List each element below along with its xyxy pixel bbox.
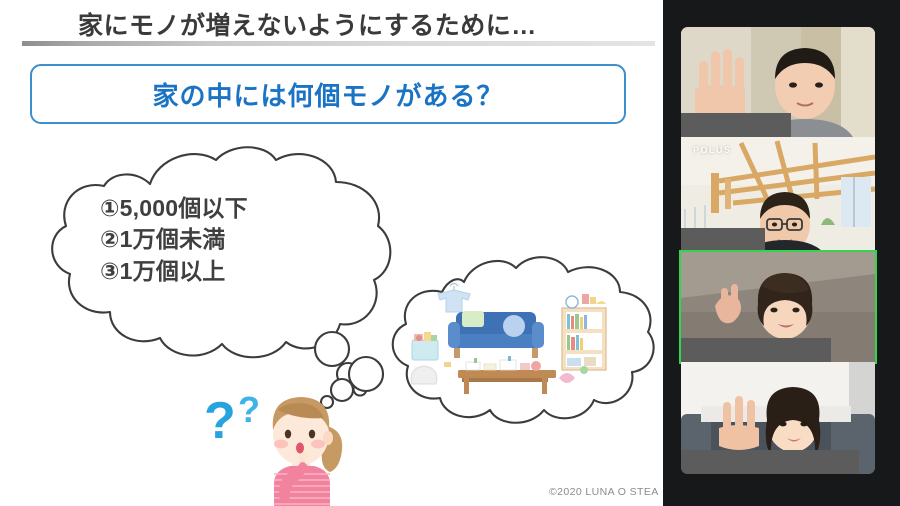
bookshelf-icon (562, 294, 606, 370)
video-tile-4[interactable] (681, 362, 875, 474)
option-item-1: ①5,000個以下 (100, 194, 380, 223)
toy-box-icon (412, 332, 438, 360)
participant-name-bar-2 (681, 228, 765, 252)
coffee-table-icon (458, 356, 556, 394)
video-call-sidebar: POLUS HOUSING (663, 0, 900, 506)
options-list: ①5,000個以下 ②1万個未満 ③1万個以上 (100, 194, 380, 286)
question-callout-box: 家の中には何個モノがある？ (30, 64, 626, 124)
option-item-3: ③1万個以上 (100, 257, 380, 286)
thinking-person-illustration (248, 382, 360, 506)
participant-name-bar-4 (681, 450, 859, 474)
slide-canvas: 家にモノが増えないようにするために… 家の中には何個モノがある？ ①5,000個… (0, 0, 663, 506)
video-tile-1[interactable] (681, 27, 875, 137)
video-tile-3[interactable] (681, 252, 875, 362)
hanging-shirt-icon (438, 284, 470, 313)
copyright-notice: ©2020 LUNA O STEA (549, 486, 659, 498)
svg-text:?: ? (204, 392, 236, 450)
video-tile-2[interactable]: POLUS HOUSING (681, 137, 875, 252)
option-item-2: ②1万個未満 (100, 225, 380, 254)
sofa-icon (448, 311, 544, 358)
polus-watermark: POLUS HOUSING (693, 145, 732, 159)
page-title: 家にモノが増えないようにするために… (78, 6, 537, 42)
question-text: 家の中には何個モノがある？ (152, 76, 503, 113)
title-divider (22, 41, 655, 46)
participant-name-bar-3 (681, 338, 831, 362)
presentation-screen: 家にモノが増えないようにするために… 家の中には何個モノがある？ ①5,000個… (0, 0, 900, 506)
cluttered-living-room-illustration (404, 278, 624, 403)
floor-cushion-icon (411, 366, 437, 384)
toy-floor-icon (559, 373, 575, 383)
participant-name-bar-1 (681, 113, 791, 137)
